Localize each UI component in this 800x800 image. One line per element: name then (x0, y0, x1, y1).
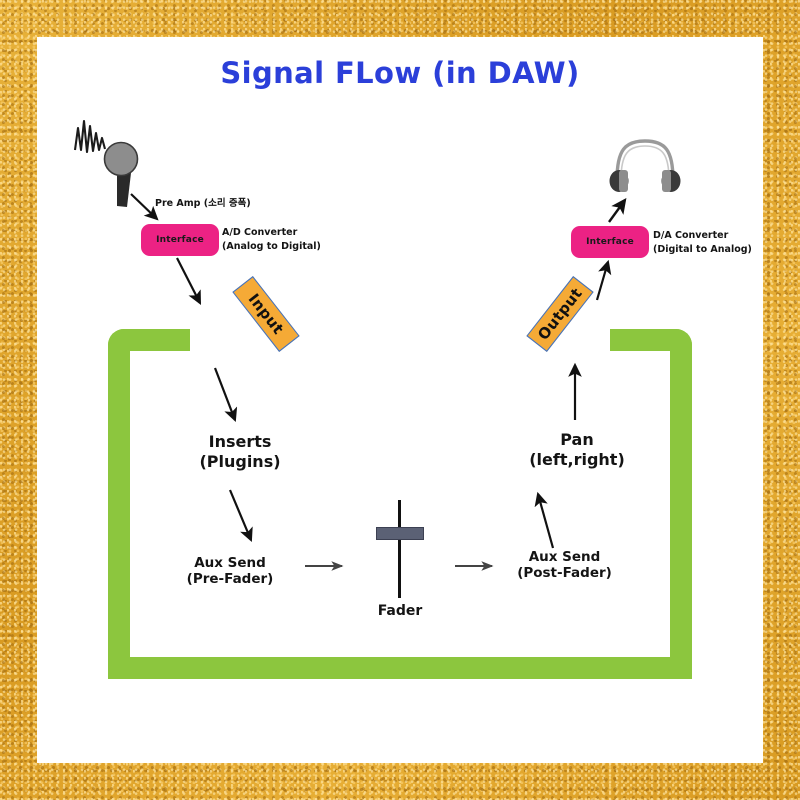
preamp-label: Pre Amp (소리 증폭) (155, 198, 251, 210)
channel-strip-top-right (610, 329, 692, 351)
diagram-canvas: Signal FLow (in DAW) (0, 0, 800, 800)
interface-box-input[interactable]: Interface (141, 224, 219, 256)
ad-converter-line2: (Analog to Digital) (222, 241, 321, 253)
inserts-label: Inserts (Plugins) (145, 432, 335, 471)
channel-strip-left (108, 329, 130, 679)
fader-cap-icon[interactable] (376, 527, 424, 540)
fader-stem-icon (398, 500, 401, 598)
page-title: Signal FLow (in DAW) (37, 56, 763, 90)
channel-strip-top-left (108, 329, 190, 351)
interface-box-output[interactable]: Interface (571, 226, 649, 258)
channel-strip-right (670, 329, 692, 679)
pan-label: Pan (left,right) (482, 430, 672, 469)
interface-output-label: Interface (586, 237, 634, 247)
ad-converter-line1: A/D Converter (222, 227, 297, 239)
fader-label: Fader (345, 603, 455, 620)
da-converter-line2: (Digital to Analog) (653, 244, 752, 256)
aux-send-post-label: Aux Send (Post-Fader) (487, 549, 642, 582)
paper-background (37, 37, 763, 763)
channel-strip-bottom (108, 657, 692, 679)
interface-input-label: Interface (156, 235, 204, 245)
da-converter-line1: D/A Converter (653, 230, 728, 242)
aux-send-pre-label: Aux Send (Pre-Fader) (155, 555, 305, 588)
